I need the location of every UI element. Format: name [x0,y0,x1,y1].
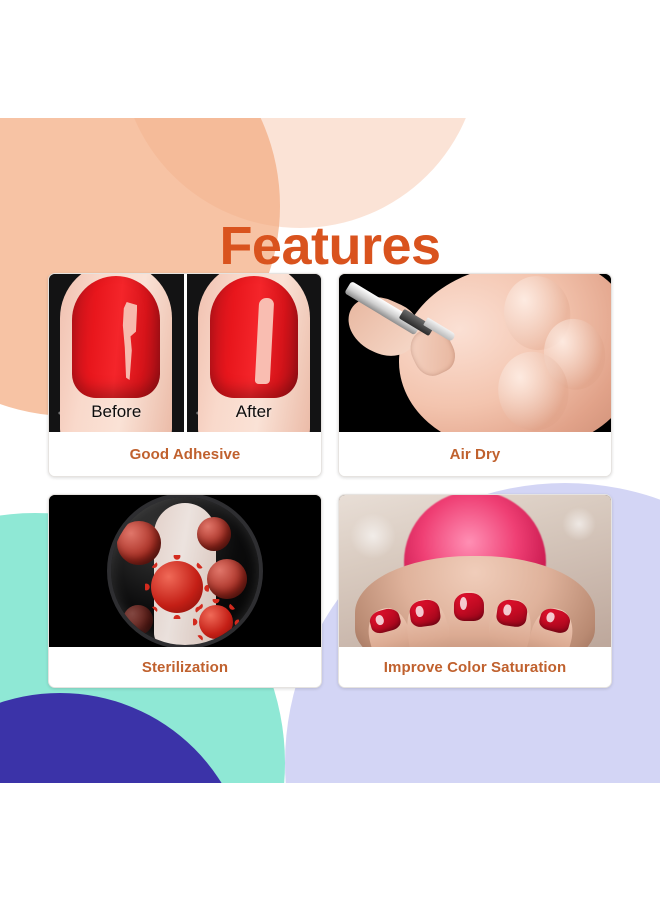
feature-card-sterilization[interactable]: Sterilization [48,494,322,688]
chipped-highlight-streak [121,302,137,380]
smooth-highlight-streak [254,298,274,384]
good-adhesive-image: Before After [49,274,321,432]
after-panel: After [184,274,322,432]
red-nail [368,606,403,635]
after-label: After [187,402,322,422]
cupped-hands [355,556,594,647]
feature-label-air-dry: Air Dry [339,432,611,476]
feature-label-sterilization: Sterilization [49,647,321,687]
finger [449,591,490,647]
germ-particle [197,517,231,551]
before-label: Before [49,402,184,422]
finger [523,604,578,647]
germ-particle [207,559,247,599]
finger [485,596,535,647]
virus-particle [199,605,233,639]
feature-card-air-dry[interactable]: Air Dry [338,273,612,477]
sterilization-image [49,495,321,647]
page-title: Features [0,219,660,273]
germ-particle [123,605,153,635]
germ-particle [117,521,161,565]
magnifier-lens [107,495,263,647]
virus-particle [151,561,203,613]
red-nail [454,593,484,621]
air-dry-image [339,274,611,432]
finger [403,596,453,647]
red-nail [72,276,160,398]
bokeh-light [350,513,396,559]
feature-label-good-adhesive: Good Adhesive [49,432,321,476]
red-nail [409,598,442,628]
bokeh-light [562,507,596,541]
features-grid: Before After Good Adhesive [48,273,612,688]
feature-label-improve-color-saturation: Improve Color Saturation [339,647,611,687]
feature-card-improve-color-saturation[interactable]: Improve Color Saturation [338,494,612,688]
red-nail [538,606,573,635]
before-panel: Before [49,274,184,432]
red-nail [210,276,298,398]
improve-color-saturation-image [339,495,611,647]
feature-card-good-adhesive[interactable]: Before After Good Adhesive [48,273,322,477]
red-nail [496,598,529,628]
